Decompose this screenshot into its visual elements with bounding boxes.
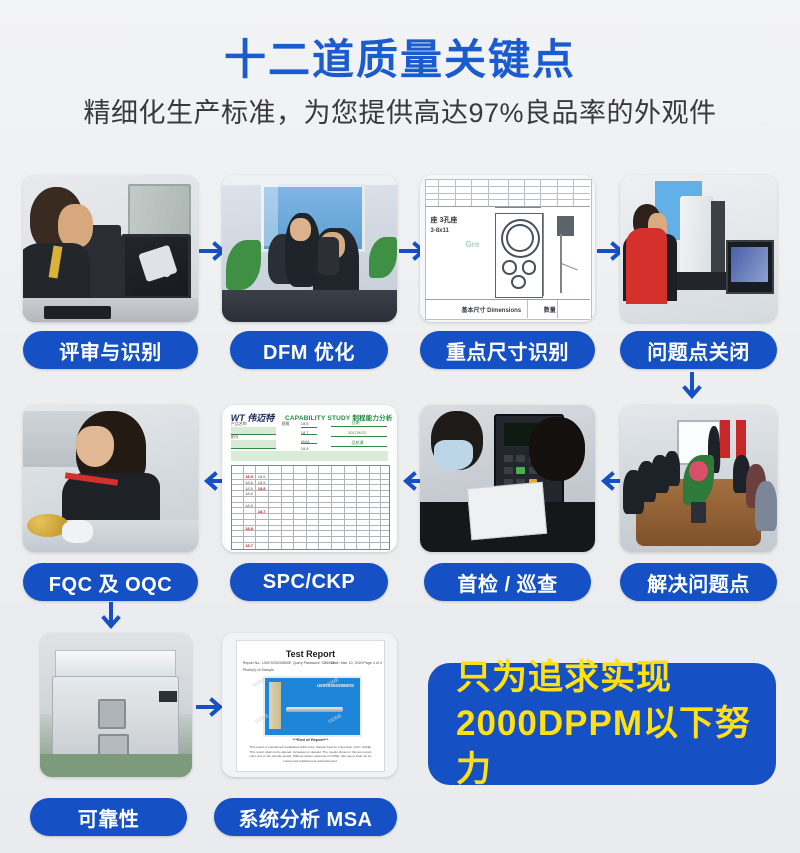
step-label-8[interactable]: FQC 及 OQC: [23, 563, 198, 601]
step-label-3-text: 重点尺寸识别: [446, 336, 569, 365]
promo-card: 只为追求实现 2000DPPM以下努力: [428, 663, 776, 785]
cad-footer-left: 基本尺寸 Dimensions: [461, 305, 521, 314]
spc-value-1: 18.5: [301, 421, 309, 426]
header: 十二道质量关键点 精细化生产标准，为您提供高达97%良品率的外观件: [0, 0, 800, 129]
scene-dfm-office-discussion: [222, 175, 397, 322]
step-label-1-text: 评审与识别: [59, 336, 162, 365]
step-label-4[interactable]: 问题点关闭: [620, 331, 777, 369]
step-photo-10: Test Report Report No.: U007020030800E Q…: [222, 633, 397, 777]
step-label-1[interactable]: 评审与识别: [23, 331, 198, 369]
scene-cad-drawing: 座 3孔座 3-8x11 Gre 基本尺寸 Dimensions 数量: [420, 175, 595, 322]
step-photo-5: [620, 405, 777, 552]
scene-engineer-dual-monitors: [23, 175, 198, 322]
step-photo-9: [40, 633, 192, 777]
scene-spc-capability-sheet: WT 伟迈特 CAPABILITY STUDY 制程能力分析 产品名称 图号 规…: [222, 405, 397, 552]
step-label-4-text: 问题点关闭: [647, 336, 750, 365]
test-report-date: Date: Mar. 10, 2020: [331, 661, 363, 665]
cad-watermark: Gre: [466, 240, 480, 249]
step-photo-7: WT 伟迈特 CAPABILITY STUDY 制程能力分析 产品名称 图号 规…: [222, 405, 397, 552]
step-label-8-text: FQC 及 OQC: [49, 568, 172, 597]
step-label-10[interactable]: 系统分析 MSA: [214, 798, 397, 836]
spc-right-3: 品检课: [352, 440, 364, 446]
page-title: 十二道质量关键点: [0, 36, 800, 85]
cad-footer-right: 数量: [544, 305, 556, 314]
cad-note-sub: 3-8x11: [431, 228, 449, 234]
step-photo-1: [23, 175, 198, 322]
test-report-end-mark: ***End of Report***: [237, 737, 384, 742]
scene-fqc-inspection-bench: [23, 405, 198, 552]
step-label-6-text: 首检 / 巡查: [457, 568, 557, 597]
spc-right-2: 2017/9/22: [348, 430, 366, 435]
spc-right-1: 日期: [352, 420, 360, 426]
step-label-7[interactable]: SPC/CKP: [230, 563, 388, 601]
scene-test-report-document: Test Report Report No.: U007020030800E Q…: [222, 633, 397, 777]
step-photo-4: [620, 175, 777, 322]
spc-value-3: #N/A: [301, 439, 310, 444]
arrow-down-icon-2: [100, 602, 122, 632]
promo-line-1: 只为追求实现: [456, 655, 776, 701]
test-report-no: Report No.: U007020030800E: [243, 661, 291, 665]
step-label-6[interactable]: 首检 / 巡查: [424, 563, 591, 601]
scene-first-article-inspection: [420, 405, 595, 552]
step-photo-3: 座 3孔座 3-8x11 Gre 基本尺寸 Dimensions 数量: [420, 175, 595, 322]
test-report-password: Query Password: SB6054: [293, 661, 334, 665]
scene-vision-measuring-machine: [620, 175, 777, 322]
spc-data-grid: 18.5 18.6 18.6 18.5 18.5 18.8 18.6 18.5 …: [231, 465, 391, 549]
step-label-3[interactable]: 重点尺寸识别: [420, 331, 595, 369]
step-label-5-text: 解决问题点: [647, 568, 750, 597]
step-label-10-text: 系统分析 MSA: [239, 803, 373, 832]
test-report-disclaimer: This report is considered invalidated wi…: [249, 745, 372, 764]
scene-team-meeting-room: [620, 405, 777, 552]
page-subtitle: 精细化生产标准，为您提供高达97%良品率的外观件: [0, 97, 800, 129]
step-photo-2: [222, 175, 397, 322]
promo-line-2: 2000DPPM以下努力: [456, 701, 776, 793]
scene-salt-spray-chamber: [40, 633, 192, 777]
arrow-down-icon-1: [681, 372, 703, 402]
step-photo-8: [23, 405, 198, 552]
step-label-9-text: 可靠性: [78, 803, 140, 832]
step-label-9[interactable]: 可靠性: [30, 798, 187, 836]
spc-value-2: 18.7: [301, 430, 309, 435]
step-label-2-text: DFM 优化: [263, 336, 355, 365]
cad-note-title: 座 3孔座: [431, 215, 458, 225]
step-label-2[interactable]: DFM 优化: [230, 331, 388, 369]
test-report-title: Test Report: [237, 649, 384, 659]
step-label-7-text: SPC/CKP: [263, 571, 355, 594]
step-label-5[interactable]: 解决问题点: [620, 563, 777, 601]
test-report-photos-label: Photo(s) of Sample:: [243, 668, 275, 672]
test-report-page: Page 4 of 4: [363, 661, 381, 665]
step-photo-6: [420, 405, 595, 552]
infographic-root: 十二道质量关键点 精细化生产标准，为您提供高达97%良品率的外观件: [0, 0, 800, 853]
